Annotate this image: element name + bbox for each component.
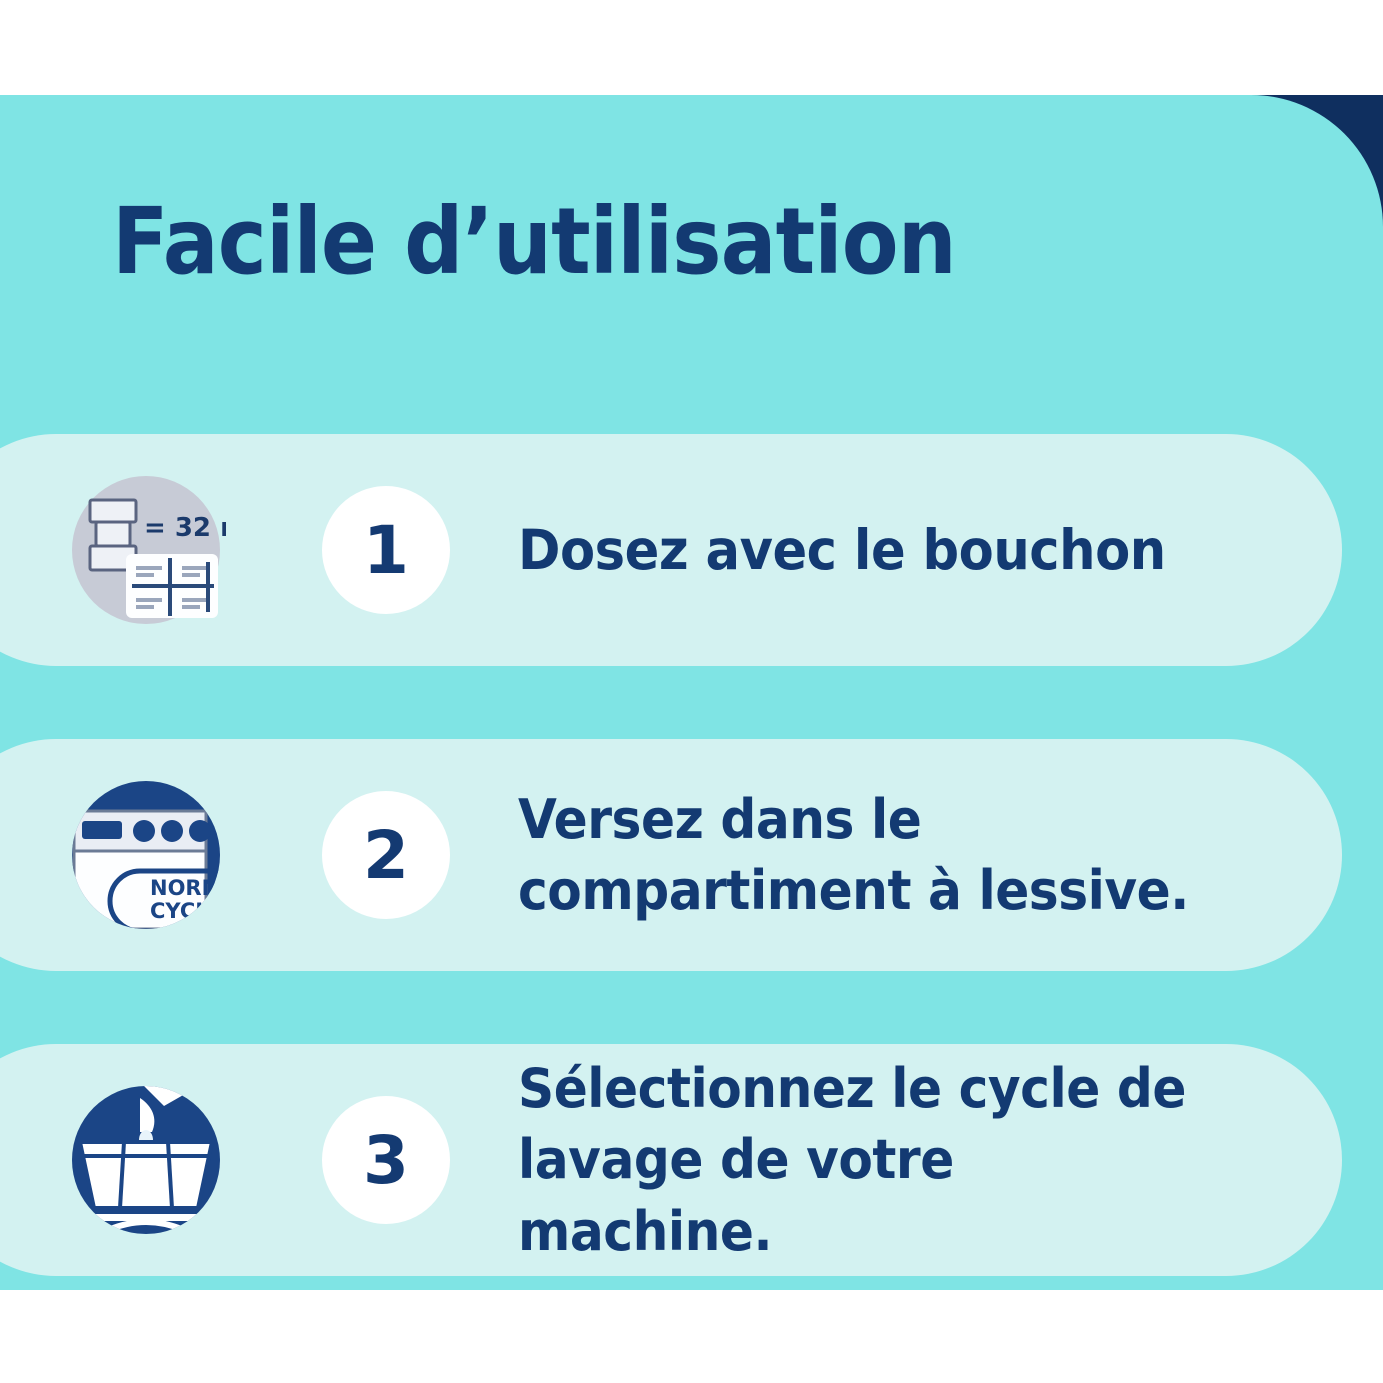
svg-text:= 32 ml: = 32 ml (144, 513, 226, 543)
step-card-3: 3 Sélectionnez le cycle de lavage de vot… (0, 1044, 1342, 1276)
washing-machine-icon: NORMAL CYCLE (66, 775, 226, 935)
detergent-drawer-icon (66, 1080, 226, 1240)
step-number-1: 1 (322, 486, 450, 614)
step-text-1: Dosez avec le bouchon (518, 514, 1225, 587)
measuring-cap-icon: = 32 ml (66, 470, 226, 630)
step-card-1: = 32 ml (0, 434, 1342, 666)
step-number-2: 2 (322, 791, 450, 919)
infographic-canvas: Facile d’utilisation = 32 ml (0, 0, 1383, 1383)
svg-text:CYCLE: CYCLE (150, 899, 223, 923)
step-text-2: Versez dans le compartiment à lessive. (518, 784, 1225, 927)
step-card-2: NORMAL CYCLE 2 Versez dans le compartime… (0, 739, 1342, 971)
step-text-3: Sélectionnez le cycle de lavage de votre… (518, 1053, 1225, 1267)
page-title: Facile d’utilisation (112, 196, 1147, 288)
svg-text:NORMAL: NORMAL (150, 876, 226, 900)
step-number-3: 3 (322, 1096, 450, 1224)
